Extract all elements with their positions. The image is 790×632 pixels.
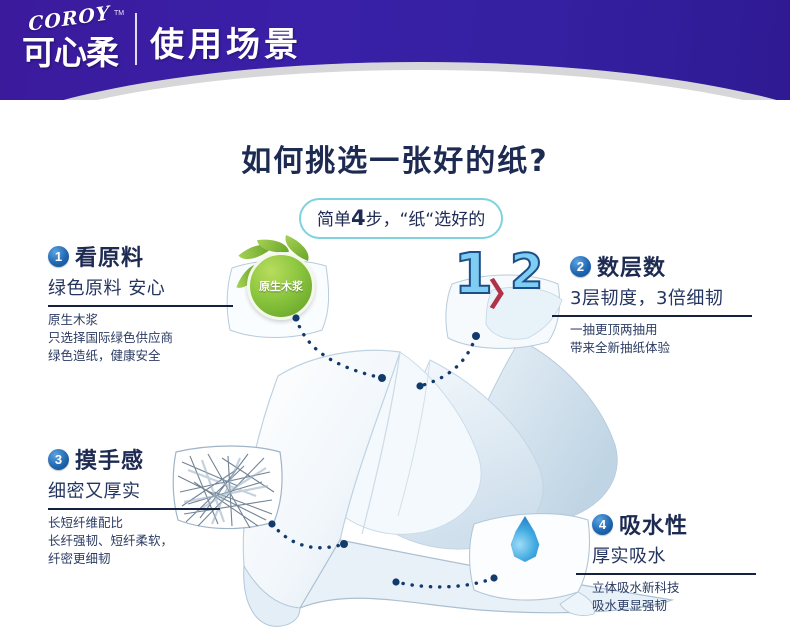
numeral-one: 1	[454, 242, 493, 307]
section-3-desc-line-1: 长短纤维配比	[48, 514, 248, 532]
section-3-desc-line-2: 长纤强韧、短纤柔软，	[48, 532, 248, 550]
steps-pill-badge: 简单4步，“纸“选好的	[299, 198, 503, 239]
water-drop-icon	[508, 516, 542, 562]
section-3-rule	[48, 508, 220, 510]
section-1-subtitle: 绿色原料 安心	[48, 274, 258, 300]
logo-chinese-text: 可心柔	[22, 26, 118, 74]
pill-prefix: 简单	[317, 210, 351, 230]
section-1-heading: 1 看原料	[48, 240, 258, 272]
section-3-number-badge: 3	[48, 449, 69, 470]
pill-suffix: 步，“纸“选好的	[366, 210, 486, 230]
section-1-desc-line-3: 绿色造纸，健康安全	[48, 347, 258, 365]
page-title: 如何挑选一张好的纸?	[0, 136, 790, 180]
section-1-description: 原生木浆 只选择国际绿色供应商 绿色造纸，健康安全	[48, 311, 258, 365]
layers-numeral-graphic: 1 〉 2	[452, 248, 562, 316]
banner-divider	[135, 13, 137, 65]
section-4-rule	[576, 573, 756, 575]
section-4-desc-line-2: 吸水更显强韧	[592, 597, 787, 615]
section-2-heading: 2 数层数	[570, 250, 785, 282]
section-2-subtitle: 3层韧度，3倍细韧	[570, 284, 785, 310]
section-3-title: 摸手感	[75, 443, 144, 475]
section-1-rule	[48, 305, 233, 307]
section-4-desc-line-1: 立体吸水新科技	[592, 579, 787, 597]
section-4-number-badge: 4	[592, 514, 613, 535]
section-4-heading: 4 吸水性	[592, 508, 787, 540]
section-1-desc-line-1: 原生木浆	[48, 311, 258, 329]
section-2-title: 数层数	[597, 250, 666, 282]
section-1-number-badge: 1	[48, 246, 69, 267]
trademark-icon: TM	[114, 10, 124, 17]
section-1-title: 看原料	[75, 240, 144, 272]
section-3-description: 长短纤维配比 长纤强韧、短纤柔软， 纤密更细韧	[48, 514, 248, 568]
feature-section-1: 1 看原料 绿色原料 安心 原生木浆 只选择国际绿色供应商 绿色造纸，健康安全	[48, 240, 258, 365]
section-2-rule	[552, 315, 752, 317]
arrow-icon: 〉	[490, 270, 520, 314]
section-4-subtitle: 厚实吸水	[592, 542, 787, 568]
section-2-description: 一抽更顶两抽用 带来全新抽纸体验	[570, 321, 785, 357]
section-3-subtitle: 细密又厚实	[48, 477, 248, 503]
section-1-desc-line-2: 只选择国际绿色供应商	[48, 329, 258, 347]
numeral-two: 2	[510, 244, 543, 300]
feature-section-4: 4 吸水性 厚实吸水 立体吸水新科技 吸水更显强韧	[592, 508, 787, 615]
feature-section-3: 3 摸手感 细密又厚实 长短纤维配比 长纤强韧、短纤柔软， 纤密更细韧	[48, 443, 248, 568]
section-3-desc-line-3: 纤密更细韧	[48, 550, 248, 568]
pill-number: 4	[351, 206, 366, 230]
section-2-desc-line-2: 带来全新抽纸体验	[570, 339, 785, 357]
header-banner: COROY TM 可心柔 使用场景	[0, 0, 790, 100]
pulp-badge-label: 原生木浆	[259, 278, 303, 294]
section-4-description: 立体吸水新科技 吸水更显强韧	[592, 579, 787, 615]
section-2-number-badge: 2	[570, 256, 591, 277]
section-2-desc-line-1: 一抽更顶两抽用	[570, 321, 785, 339]
brand-logo[interactable]: COROY TM 可心柔	[22, 6, 127, 68]
leaf-icon	[257, 236, 289, 256]
section-4-title: 吸水性	[619, 508, 688, 540]
feature-section-2: 2 数层数 3层韧度，3倍细韧 一抽更顶两抽用 带来全新抽纸体验	[570, 250, 785, 357]
banner-title: 使用场景	[150, 17, 302, 66]
section-3-heading: 3 摸手感	[48, 443, 248, 475]
leaf-icon	[280, 235, 314, 261]
